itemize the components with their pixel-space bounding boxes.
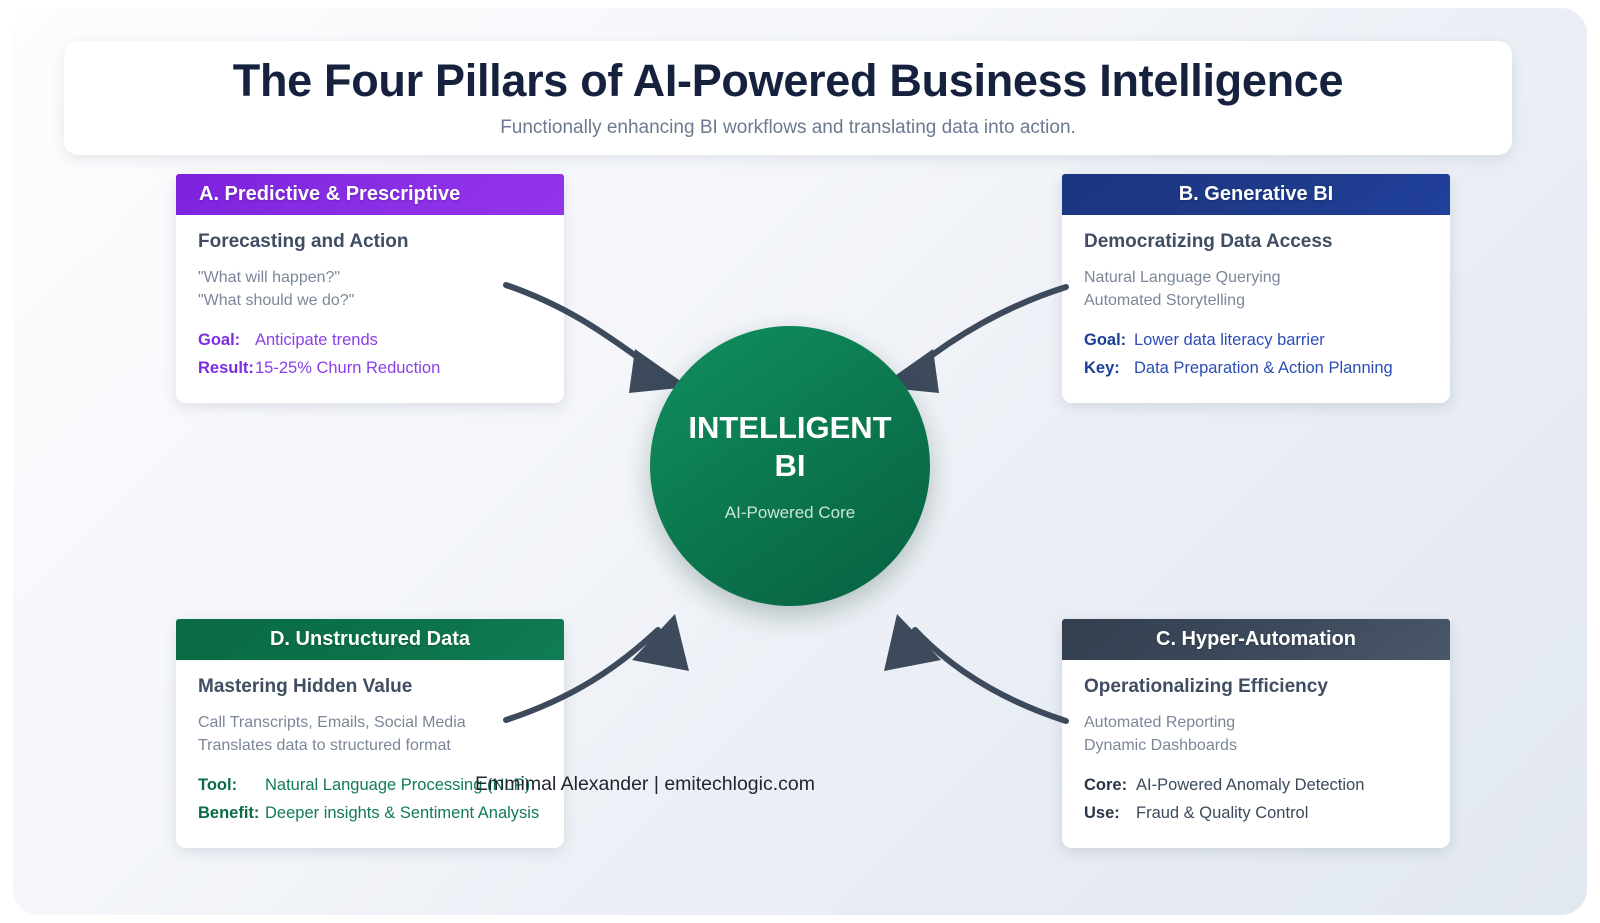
card-b-subtitle: Democratizing Data Access	[1084, 231, 1428, 253]
card-b-fact-1: Goal:Lower data literacy barrier	[1084, 327, 1428, 355]
card-c-fact-2: Use:Fraud & Quality Control	[1084, 800, 1428, 828]
arrow-path-b	[918, 287, 1066, 366]
card-a-fact-1-key: Goal:	[198, 327, 255, 355]
card-c-lines: Automated Reporting Dynamic Dashboards	[1084, 712, 1428, 757]
pillar-card-d[interactable]: D. Unstructured Data Mastering Hidden Va…	[176, 619, 564, 848]
pillar-card-c[interactable]: C. Hyper-Automation Operationalizing Eff…	[1062, 619, 1450, 848]
card-b-line-1: Natural Language Querying	[1084, 267, 1428, 290]
core-node[interactable]: INTELLIGENT BI AI-Powered Core	[650, 326, 930, 606]
card-c-fact-2-key: Use:	[1084, 800, 1136, 828]
card-d-lines: Call Transcripts, Emails, Social Media T…	[198, 712, 542, 757]
card-c-line-2: Dynamic Dashboards	[1084, 735, 1428, 758]
card-b-fact-1-value: Lower data literacy barrier	[1134, 331, 1325, 349]
pillar-card-b[interactable]: B. Generative BI Democratizing Data Acce…	[1062, 174, 1450, 403]
card-c-line-1: Automated Reporting	[1084, 712, 1428, 735]
card-d-subtitle: Mastering Hidden Value	[198, 676, 542, 698]
card-d-line-2: Translates data to structured format	[198, 735, 542, 758]
credit-text: Emmimal Alexander | emitechlogic.com	[475, 773, 815, 796]
card-a-line-2: "What should we do?"	[198, 290, 542, 313]
card-b-fact-2-key: Key:	[1084, 355, 1134, 383]
arrow-card-c-to-core	[884, 614, 1066, 721]
card-b-body: Democratizing Data Access Natural Langua…	[1062, 215, 1450, 403]
card-a-body: Forecasting and Action "What will happen…	[176, 215, 564, 403]
diagram-canvas: The Four Pillars of AI-Powered Business …	[0, 0, 1600, 923]
card-b-header: B. Generative BI	[1062, 174, 1450, 215]
card-a-subtitle: Forecasting and Action	[198, 231, 542, 253]
arrow-head-c	[884, 614, 941, 671]
page-title: The Four Pillars of AI-Powered Business …	[233, 57, 1343, 104]
card-a-line-1: "What will happen?"	[198, 267, 542, 290]
card-a-fact-2: Result:15-25% Churn Reduction	[198, 355, 542, 383]
arrow-head-d	[632, 614, 689, 671]
card-a-fact-1-value: Anticipate trends	[255, 331, 378, 349]
card-d-line-1: Call Transcripts, Emails, Social Media	[198, 712, 542, 735]
card-c-subtitle: Operationalizing Efficiency	[1084, 676, 1428, 698]
arrow-card-b-to-core	[879, 287, 1066, 393]
card-b-fact-1-key: Goal:	[1084, 327, 1134, 355]
card-b-fact-2: Key:Data Preparation & Action Planning	[1084, 355, 1428, 383]
card-a-fact-2-value: 15-25% Churn Reduction	[255, 359, 440, 377]
card-b-fact-2-value: Data Preparation & Action Planning	[1134, 359, 1393, 377]
card-a-fact-1: Goal:Anticipate trends	[198, 327, 542, 355]
card-d-fact-2: Benefit:Deeper insights & Sentiment Anal…	[198, 800, 542, 828]
pillar-card-a[interactable]: A. Predictive & Prescriptive Forecasting…	[176, 174, 564, 403]
card-b-line-2: Automated Storytelling	[1084, 290, 1428, 313]
card-a-header: A. Predictive & Prescriptive	[176, 174, 564, 215]
title-banner: The Four Pillars of AI-Powered Business …	[64, 41, 1512, 155]
card-d-fact-2-value: Deeper insights & Sentiment Analysis	[265, 804, 539, 822]
footer-credit: Emmimal Alexander | emitechlogic.com	[13, 773, 1587, 796]
card-d-header: D. Unstructured Data	[176, 619, 564, 660]
card-c-fact-2-value: Fraud & Quality Control	[1136, 804, 1308, 822]
card-d-body: Mastering Hidden Value Call Transcripts,…	[176, 660, 564, 848]
card-b-lines: Natural Language Querying Automated Stor…	[1084, 267, 1428, 312]
core-subtitle: AI-Powered Core	[725, 503, 855, 523]
diagram-panel: The Four Pillars of AI-Powered Business …	[13, 8, 1587, 915]
card-a-fact-2-key: Result:	[198, 355, 255, 383]
card-d-fact-2-key: Benefit:	[198, 800, 265, 828]
core-title: INTELLIGENT BI	[683, 409, 898, 485]
card-c-body: Operationalizing Efficiency Automated Re…	[1062, 660, 1450, 848]
card-a-lines: "What will happen?" "What should we do?"	[198, 267, 542, 312]
arrow-path-c	[915, 630, 1066, 721]
page-subtitle: Functionally enhancing BI workflows and …	[500, 117, 1076, 139]
card-c-header: C. Hyper-Automation	[1062, 619, 1450, 660]
